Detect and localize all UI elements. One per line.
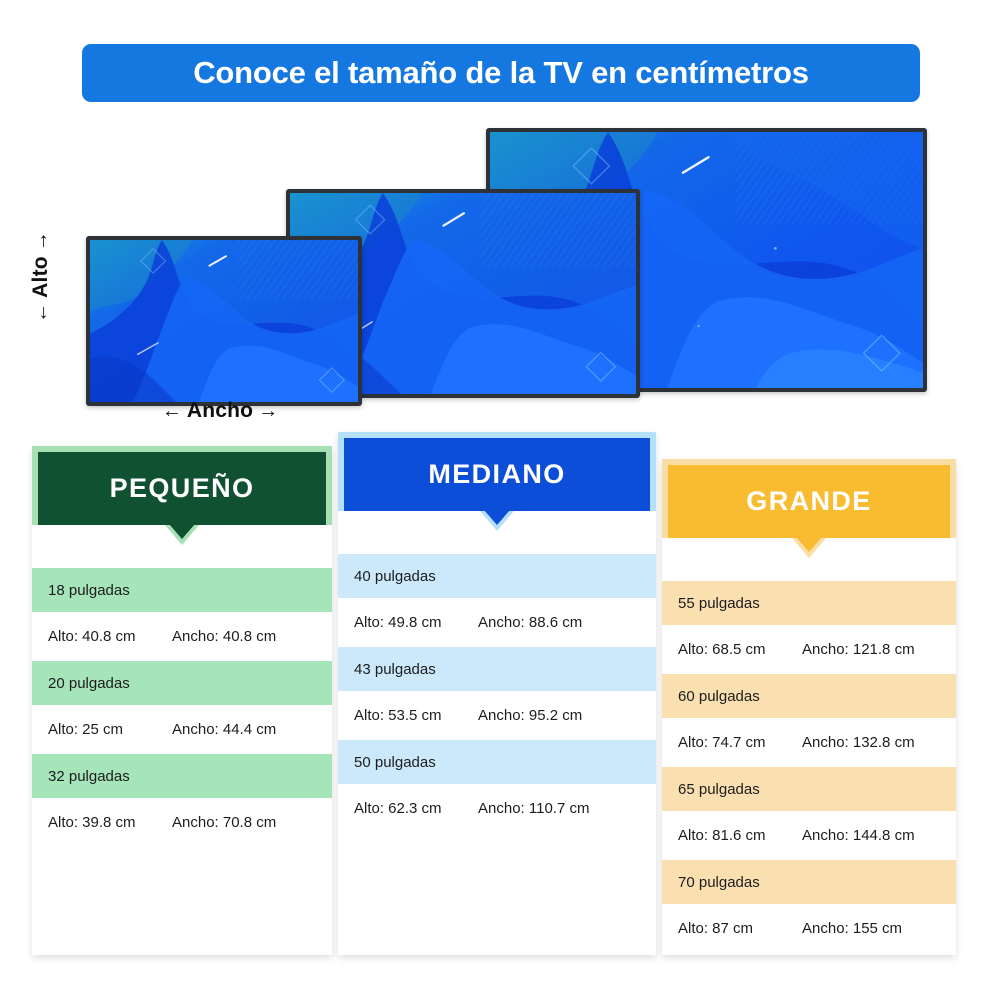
row-alto-value: Alto: 68.5 cm <box>678 641 802 658</box>
table-row-dims: Alto: 40.8 cm Ancho: 40.8 cm <box>32 612 332 661</box>
alto-arrow-right-icon: → <box>31 231 51 251</box>
table-row-size: 43 pulgadas <box>338 647 656 691</box>
row-alto-value: Alto: 81.6 cm <box>678 827 802 844</box>
table-row-dims: Alto: 49.8 cm Ancho: 88.6 cm <box>338 598 656 647</box>
ancho-label-text: Ancho <box>187 399 253 423</box>
card-mediano-header-gap <box>338 531 656 554</box>
row-ancho-value: Ancho: 155 cm <box>802 920 902 937</box>
row-ancho-value: Ancho: 132.8 cm <box>802 734 915 751</box>
alto-arrow-left-icon: ← <box>31 303 51 323</box>
alto-label-text: Alto <box>29 256 53 298</box>
table-row-size: 65 pulgadas <box>662 767 956 811</box>
card-mediano-title: MEDIANO <box>428 459 565 490</box>
card-grande-rows: 55 pulgadas Alto: 68.5 cm Ancho: 121.8 c… <box>662 581 956 953</box>
table-row-size: 50 pulgadas <box>338 740 656 784</box>
ancho-arrow-right-icon: → <box>258 401 278 421</box>
tv-small-screen <box>90 240 358 402</box>
card-grande-notch <box>662 538 956 558</box>
alto-dimension-label: ← Alto → <box>26 207 56 347</box>
card-mediano-header-plate: MEDIANO <box>344 438 650 511</box>
table-row-size: 55 pulgadas <box>662 581 956 625</box>
table-row-size: 20 pulgadas <box>32 661 332 705</box>
row-alto-value: Alto: 53.5 cm <box>354 707 478 724</box>
row-alto-value: Alto: 62.3 cm <box>354 800 478 817</box>
card-pequeno: PEQUEÑO 18 pulgadas Alto: 40.8 cm Ancho:… <box>32 446 332 955</box>
row-ancho-value: Ancho: 121.8 cm <box>802 641 915 658</box>
row-ancho-value: Ancho: 40.8 cm <box>172 628 276 645</box>
row-alto-value: Alto: 25 cm <box>48 721 172 738</box>
row-alto-value: Alto: 40.8 cm <box>48 628 172 645</box>
notch-inner-triangle-icon <box>169 524 195 539</box>
table-row-dims: Alto: 62.3 cm Ancho: 110.7 cm <box>338 784 656 833</box>
table-row-size: 60 pulgadas <box>662 674 956 718</box>
card-pequeno-header-gap <box>32 545 332 568</box>
row-alto-value: Alto: 49.8 cm <box>354 614 478 631</box>
row-alto-value: Alto: 87 cm <box>678 920 802 937</box>
card-grande-header-gap <box>662 558 956 581</box>
notch-inner-triangle-icon <box>796 537 822 552</box>
row-ancho-value: Ancho: 70.8 cm <box>172 814 276 831</box>
table-row-dims: Alto: 53.5 cm Ancho: 95.2 cm <box>338 691 656 740</box>
table-row-dims: Alto: 87 cm Ancho: 155 cm <box>662 904 956 953</box>
table-row-size: 32 pulgadas <box>32 754 332 798</box>
card-pequeno-header-plate: PEQUEÑO <box>38 452 326 525</box>
card-pequeno-title: PEQUEÑO <box>110 473 255 504</box>
row-ancho-value: Ancho: 44.4 cm <box>172 721 276 738</box>
row-ancho-value: Ancho: 110.7 cm <box>478 800 589 817</box>
card-grande-header: GRANDE <box>662 459 956 558</box>
card-pequeno-notch <box>32 525 332 545</box>
card-grande-title: GRANDE <box>746 486 871 517</box>
table-row-dims: Alto: 68.5 cm Ancho: 121.8 cm <box>662 625 956 674</box>
table-row-dims: Alto: 81.6 cm Ancho: 144.8 cm <box>662 811 956 860</box>
tv-wallpaper-small-svg <box>90 240 358 402</box>
ancho-arrow-left-icon: ← <box>162 401 182 421</box>
tv-small <box>86 236 362 406</box>
table-row-size: 40 pulgadas <box>338 554 656 598</box>
card-mediano: MEDIANO 40 pulgadas Alto: 49.8 cm Ancho:… <box>338 432 656 955</box>
card-grande-header-plate: GRANDE <box>668 465 950 538</box>
notch-inner-triangle-icon <box>484 510 510 525</box>
row-ancho-value: Ancho: 88.6 cm <box>478 614 582 631</box>
table-row-dims: Alto: 39.8 cm Ancho: 70.8 cm <box>32 798 332 847</box>
card-grande-header-border: GRANDE <box>662 459 956 538</box>
card-mediano-header-border: MEDIANO <box>338 432 656 511</box>
ancho-dimension-label: ← Ancho → <box>140 396 300 426</box>
card-pequeno-header-border: PEQUEÑO <box>32 446 332 525</box>
table-row-size: 70 pulgadas <box>662 860 956 904</box>
row-alto-value: Alto: 39.8 cm <box>48 814 172 831</box>
card-mediano-header: MEDIANO <box>338 432 656 531</box>
row-ancho-value: Ancho: 144.8 cm <box>802 827 915 844</box>
card-pequeno-rows: 18 pulgadas Alto: 40.8 cm Ancho: 40.8 cm… <box>32 568 332 847</box>
table-row-size: 18 pulgadas <box>32 568 332 612</box>
table-row-dims: Alto: 74.7 cm Ancho: 132.8 cm <box>662 718 956 767</box>
row-alto-value: Alto: 74.7 cm <box>678 734 802 751</box>
card-mediano-notch <box>338 511 656 531</box>
table-row-dims: Alto: 25 cm Ancho: 44.4 cm <box>32 705 332 754</box>
card-pequeno-header: PEQUEÑO <box>32 446 332 545</box>
card-grande: GRANDE 55 pulgadas Alto: 68.5 cm Ancho: … <box>662 459 956 955</box>
row-ancho-value: Ancho: 95.2 cm <box>478 707 582 724</box>
card-mediano-rows: 40 pulgadas Alto: 49.8 cm Ancho: 88.6 cm… <box>338 554 656 833</box>
